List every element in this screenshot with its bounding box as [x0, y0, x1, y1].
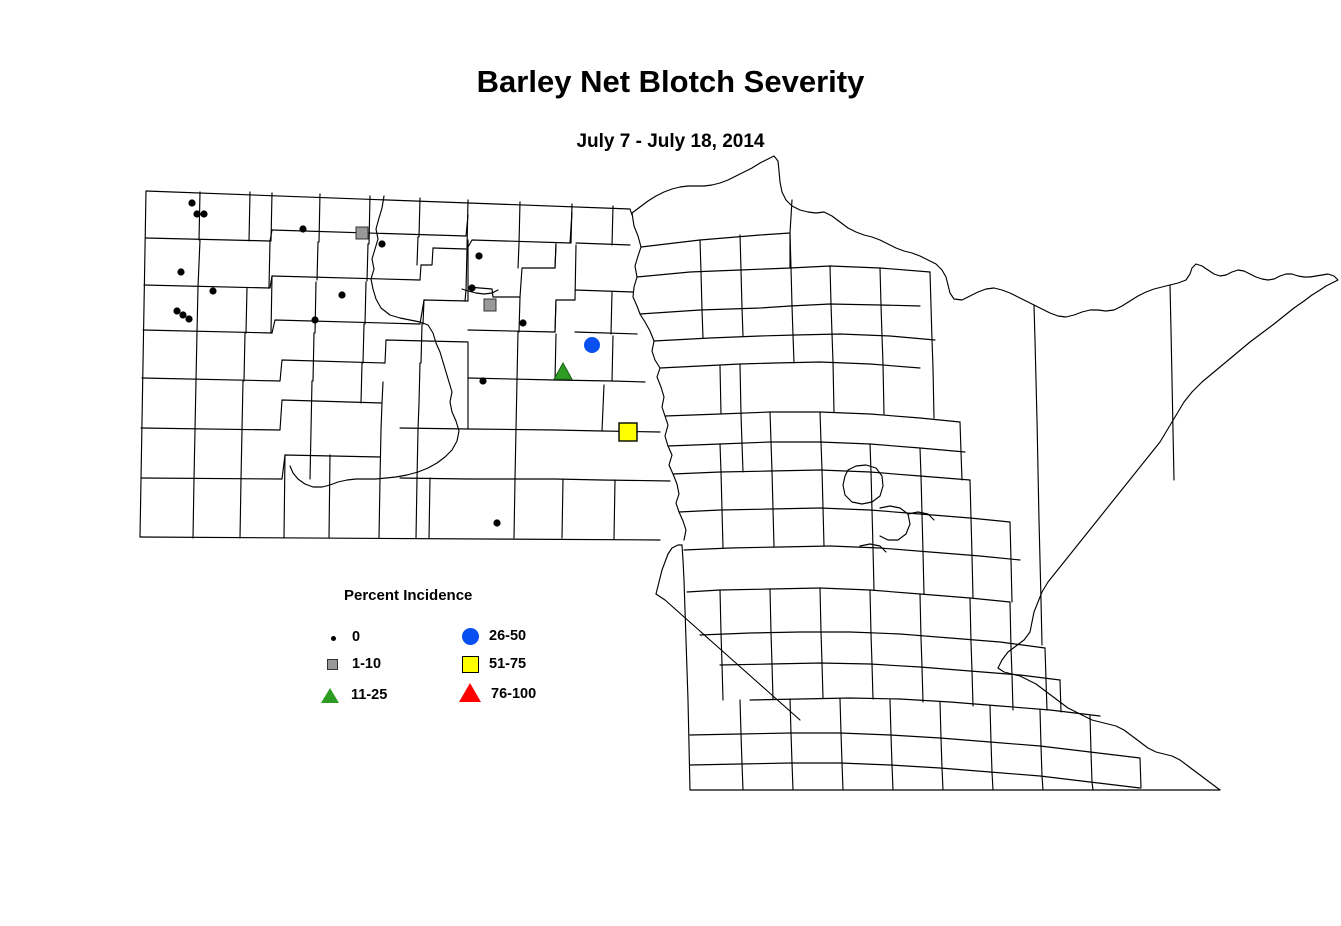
missouri-river-bend: [290, 466, 322, 487]
map-marker-0: [493, 519, 500, 526]
legend-label-4: 51-75: [489, 656, 526, 672]
state-county-map: [0, 0, 1341, 926]
legend-title: Percent Incidence: [344, 587, 472, 604]
map-marker-1-10: [484, 299, 496, 311]
map-marker-0: [185, 315, 192, 322]
legend-label-3: 26-50: [489, 628, 526, 644]
map-marker-0: [378, 240, 385, 247]
missouri-river-south: [322, 325, 459, 487]
legend-blue-circle-icon: [461, 627, 485, 647]
map-marker-51-75: [619, 423, 637, 441]
map-marker-0: [311, 316, 318, 323]
lake-superior-shore: [998, 274, 1338, 668]
nd-south-border: [140, 537, 660, 540]
map-marker-0: [338, 291, 345, 298]
legend-green-triangle-icon: [321, 686, 345, 706]
legend-dot-icon: [324, 628, 348, 648]
map-marker-0: [200, 210, 207, 217]
legend-label-1: 1-10: [352, 656, 381, 672]
nd-north-border: [146, 191, 632, 215]
map-marker-11-25: [554, 363, 572, 379]
legend-red-triangle-icon: [459, 683, 483, 703]
mn-southeast-border-mississippi: [998, 668, 1220, 790]
map-marker-0: [179, 311, 186, 318]
mn-west-border-sd: [682, 545, 690, 790]
map-marker-0: [209, 287, 216, 294]
map-marker-0: [479, 377, 486, 384]
legend: Percent Incidence 0 1-10 11-25 26-50 51-…: [320, 583, 580, 718]
map-canvas: [0, 0, 1341, 926]
map-page: Barley Net Blotch Severity July 7 - July…: [0, 0, 1341, 926]
legend-yellow-square-icon: [461, 655, 485, 675]
map-marker-0: [173, 307, 180, 314]
red-river-border: [632, 213, 686, 540]
map-marker-0: [519, 319, 526, 326]
nd-west-border: [140, 191, 146, 537]
map-marker-1-10: [356, 227, 368, 239]
mn-north-border-boundary-waters: [824, 212, 1310, 317]
mn-nw-border-lake-of-woods: [632, 156, 824, 213]
mn-sw-notch: [656, 545, 682, 594]
map-marker-0: [188, 199, 195, 206]
map-marker-0: [177, 268, 184, 275]
map-marker-26-50: [584, 337, 600, 353]
mn-sw-diagonal: [656, 594, 800, 720]
map-marker-0: [475, 252, 482, 259]
map-marker-0: [299, 225, 306, 232]
legend-label-2: 11-25: [351, 687, 387, 703]
legend-label-5: 76-100: [491, 686, 536, 702]
legend-gray-square-icon: [324, 655, 348, 675]
map-marker-0: [468, 284, 475, 291]
map-marker-0: [193, 210, 200, 217]
legend-label-0: 0: [352, 629, 360, 645]
